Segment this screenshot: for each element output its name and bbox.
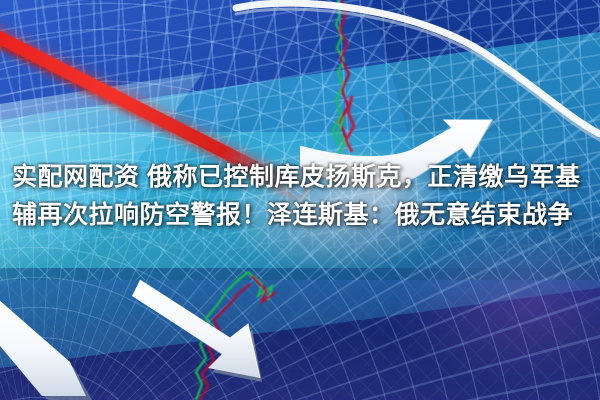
page-title: 实配网配资 俄称已控制库皮扬斯克，正清缴乌军基辅再次拉响防空警报！泽连斯基：俄无… bbox=[12, 158, 592, 234]
banner-image: 实配网配资 俄称已控制库皮扬斯克，正清缴乌军基辅再次拉响防空警报！泽连斯基：俄无… bbox=[0, 0, 600, 400]
